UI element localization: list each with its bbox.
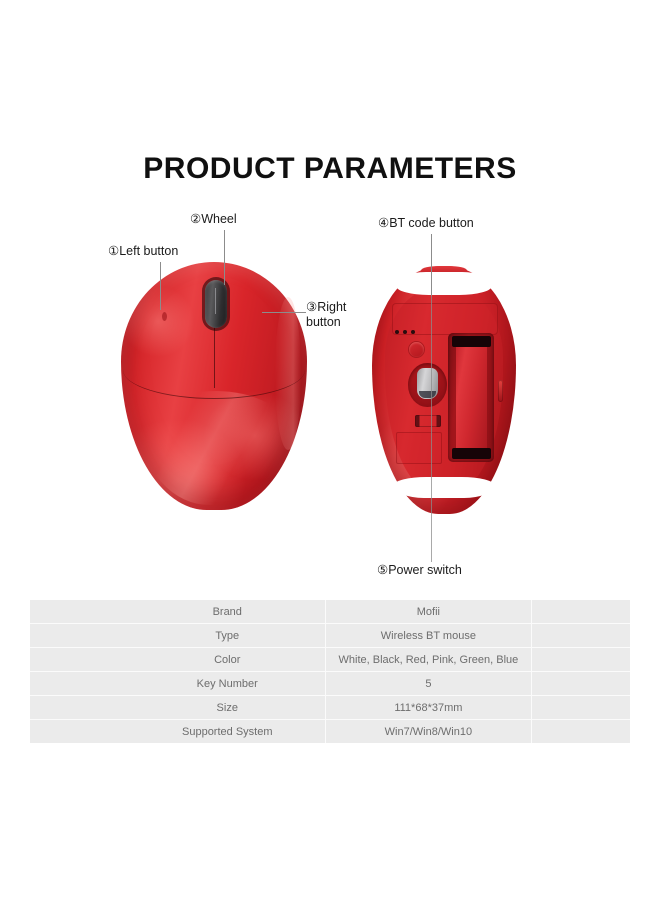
leader-line-left-button xyxy=(160,262,161,310)
indicator-dot xyxy=(395,330,399,334)
table-cell-key: Key Number xyxy=(130,672,325,696)
mouse-foot-bottom xyxy=(394,477,495,498)
table-cell-key: Size xyxy=(130,696,325,720)
table-cell-value: Mofii xyxy=(325,600,531,624)
battery-cell xyxy=(456,341,487,454)
mouse-top-view xyxy=(121,262,307,510)
table-cell-value: Win7/Win8/Win10 xyxy=(325,720,531,744)
indicator-dot xyxy=(411,330,415,334)
leader-line-right-button xyxy=(262,312,306,313)
table-cell-value: Wireless BT mouse xyxy=(325,624,531,648)
callout-right-button: ③Right button xyxy=(306,300,366,330)
table-cell-key: Brand xyxy=(130,600,325,624)
table-row: Key Number 5 xyxy=(30,672,630,696)
table-row: Type Wireless BT mouse xyxy=(30,624,630,648)
indicator-dots xyxy=(395,330,415,334)
table-cell-pad-left xyxy=(30,696,130,720)
product-parameters-page: PRODUCT PARAMETERS xyxy=(0,0,660,900)
indicator-dot xyxy=(403,330,407,334)
mouse-bottom-view xyxy=(372,266,516,514)
table-cell-value: 111*68*37mm xyxy=(325,696,531,720)
battery-contact-bottom xyxy=(452,448,491,460)
table-row: Supported System Win7/Win8/Win10 xyxy=(30,720,630,744)
table-cell-pad-left xyxy=(30,672,130,696)
leader-line-power-switch xyxy=(431,270,432,562)
table-cell-value: White, Black, Red, Pink, Green, Blue xyxy=(325,648,531,672)
callout-bt-code-button: ④BT code button xyxy=(378,216,474,231)
mouse-foot-top xyxy=(396,272,491,294)
table-cell-pad-left xyxy=(30,720,130,744)
leader-line-wheel xyxy=(224,230,225,285)
battery-contact-top xyxy=(452,336,491,348)
table-cell-value: 5 xyxy=(325,672,531,696)
battery-cover-latch xyxy=(498,380,503,402)
table-row: Size 111*68*37mm xyxy=(30,696,630,720)
table-cell-pad-right xyxy=(532,648,630,672)
power-switch-recess xyxy=(408,363,447,408)
table-cell-pad-left xyxy=(30,624,130,648)
regulatory-icon xyxy=(415,415,441,427)
scroll-wheel xyxy=(205,280,227,328)
table-cell-key: Supported System xyxy=(130,720,325,744)
bottom-recess-lower xyxy=(396,432,441,464)
left-button-dimple xyxy=(162,312,167,321)
specifications-table-body: Brand Mofii Type Wireless BT mouse Color… xyxy=(30,600,630,743)
table-cell-key: Color xyxy=(130,648,325,672)
table-cell-pad-right xyxy=(532,600,630,624)
page-title: PRODUCT PARAMETERS xyxy=(0,152,660,186)
table-cell-key: Type xyxy=(130,624,325,648)
callout-left-button: ①Left button xyxy=(108,244,178,259)
table-row: Color White, Black, Red, Pink, Green, Bl… xyxy=(30,648,630,672)
specifications-table: Brand Mofii Type Wireless BT mouse Color… xyxy=(30,600,630,743)
battery-compartment xyxy=(448,333,494,462)
power-switch-knob xyxy=(417,368,439,399)
table-cell-pad-right xyxy=(532,672,630,696)
table-row: Brand Mofii xyxy=(30,600,630,624)
table-cell-pad-right xyxy=(532,720,630,744)
table-cell-pad-right xyxy=(532,624,630,648)
callout-power-switch: ⑤Power switch xyxy=(377,563,462,578)
table-cell-pad-left xyxy=(30,648,130,672)
table-cell-pad-right xyxy=(532,696,630,720)
bt-code-button xyxy=(409,342,424,357)
table-cell-pad-left xyxy=(30,600,130,624)
callout-wheel: ②Wheel xyxy=(190,212,237,227)
